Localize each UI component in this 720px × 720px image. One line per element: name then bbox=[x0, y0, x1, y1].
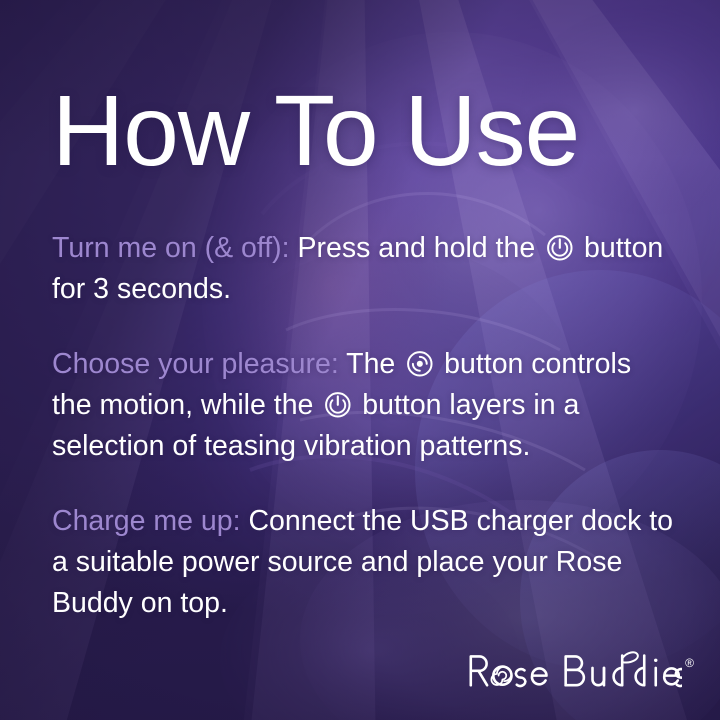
page-title: How To Use bbox=[52, 78, 579, 184]
registered-trademark-symbol: ® bbox=[685, 657, 694, 669]
step-text-before-icon: The bbox=[339, 348, 403, 380]
step-label-charge-me-up: Charge me up: bbox=[52, 505, 241, 537]
marketing-infographic-card: How To Use Turn me on (& off): Press and… bbox=[0, 0, 720, 720]
rose-buddies-wordmark bbox=[466, 644, 683, 690]
brand-logo: Rose Buddies bbox=[466, 644, 694, 690]
instructions-list: Turn me on (& off): Press and hold the b… bbox=[52, 228, 676, 624]
motion-button-icon bbox=[405, 349, 435, 379]
step-label-turn-me-on: Turn me on (& off): bbox=[52, 232, 290, 264]
step-label-choose-your-pleasure: Choose your pleasure: bbox=[52, 348, 339, 380]
power-button-icon bbox=[323, 390, 353, 420]
power-button-icon bbox=[545, 233, 575, 263]
instruction-step-charge: Charge me up: Connect the USB charger do… bbox=[52, 501, 676, 624]
instruction-step-choose-pleasure: Choose your pleasure: The button control… bbox=[52, 344, 676, 467]
step-text-before-icon: Press and hold the bbox=[290, 232, 544, 264]
instruction-step-power-on: Turn me on (& off): Press and hold the b… bbox=[52, 228, 676, 310]
